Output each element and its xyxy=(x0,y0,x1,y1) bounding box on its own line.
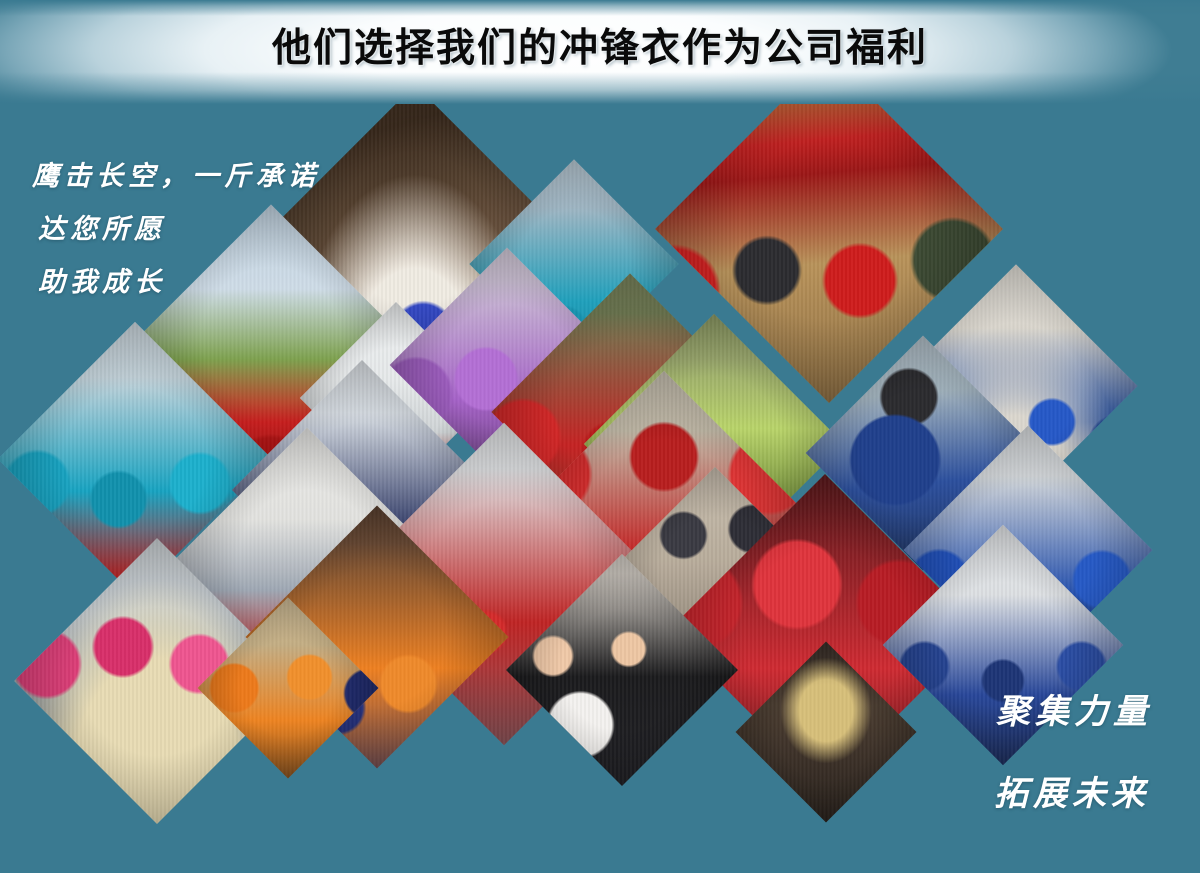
title-banner: 他们选择我们的冲锋衣作为公司福利 xyxy=(0,0,1200,104)
slogan-left-line-3: 助我成长 xyxy=(32,256,320,309)
slogan-left-line-1: 鹰击长空，一斤承诺 xyxy=(32,150,320,203)
poster-canvas: 他们选择我们的冲锋衣作为公司福利 鹰击长空，一斤承诺 达您所愿 助我成长 聚集力… xyxy=(0,0,1200,873)
slogan-left: 鹰击长空，一斤承诺 达您所愿 助我成长 xyxy=(32,150,320,309)
page-title: 他们选择我们的冲锋衣作为公司福利 xyxy=(0,26,1200,72)
slogan-right: 聚集力量 拓展未来 xyxy=(994,671,1152,835)
slogan-right-line-2: 拓展未来 xyxy=(994,753,1152,835)
slogan-left-line-2: 达您所愿 xyxy=(32,203,320,256)
slogan-right-line-1: 聚集力量 xyxy=(994,671,1152,753)
